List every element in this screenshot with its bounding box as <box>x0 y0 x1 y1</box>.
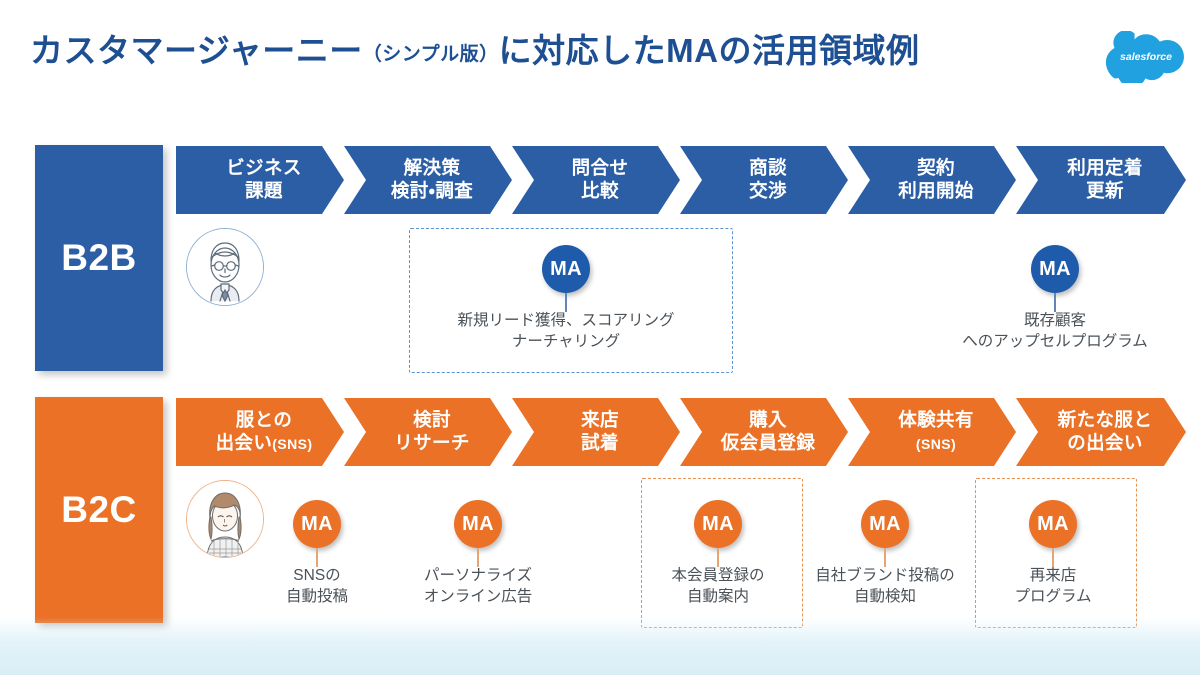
ma-caption-line1: 本会員登録の <box>671 566 764 587</box>
stage-label-line1: 体験共有 <box>898 409 974 432</box>
b2b-stage-row: ビジネス課題解決策検討・調査問合せ比較商談交渉契約利用開始利用定着更新 <box>176 146 1186 214</box>
page-title-subnote: （シンプル版） <box>363 44 499 65</box>
ma-caption-line2: 自動投稿 <box>286 587 348 608</box>
stage-label-line1: 新たな服と <box>1058 409 1153 432</box>
page-title-main-part2: に対応したMAの活用領域例 <box>499 32 920 69</box>
ma-caption: パーソナライズオンライン広告 <box>424 566 533 608</box>
stage-label-line1: 商談 <box>749 157 787 180</box>
ma-caption: 本会員登録の自動案内 <box>671 566 764 608</box>
stage-label-line1: 問合せ <box>572 157 629 180</box>
stage-label-line2: (SNS) <box>898 432 974 455</box>
stage-label-line1: ビジネス <box>226 157 302 180</box>
section-label-b2c: B2C <box>35 397 163 623</box>
ma-caption-line2: 自動検知 <box>815 587 955 608</box>
stage-label: 購入仮会員登録 <box>713 409 816 454</box>
woman-avatar <box>186 480 264 558</box>
stage-label-line2: 交渉 <box>749 180 787 203</box>
b2b-stage-6[interactable]: 利用定着更新 <box>1016 146 1186 214</box>
b2b-stage-1[interactable]: ビジネス課題 <box>176 146 344 214</box>
ma-caption-line2: オンライン広告 <box>424 587 533 608</box>
stage-label: 服との出会い(SNS) <box>208 409 313 454</box>
stage-label-channel: (SNS) <box>272 436 312 452</box>
ma-caption: 既存顧客へのアップセルプログラム <box>962 311 1148 353</box>
b2b-stage-3[interactable]: 問合せ比較 <box>512 146 680 214</box>
stage-label-line2: 検討・調査 <box>391 180 473 203</box>
section-label-b2b-text: B2B <box>61 237 137 279</box>
stage-label-line2: 利用開始 <box>898 180 974 203</box>
stage-label: 新たな服との出会い <box>1050 409 1153 454</box>
ma-connector-line <box>477 548 478 567</box>
ma-caption-line1: 新規リード獲得、スコアリング <box>457 311 674 332</box>
stage-label: 検討リサーチ <box>386 409 470 454</box>
stage-label: 利用定着更新 <box>1059 157 1143 202</box>
section-label-b2c-text: B2C <box>61 489 137 531</box>
b2b-stage-4[interactable]: 商談交渉 <box>680 146 848 214</box>
salesforce-logo-wordmark: salesforce <box>1120 51 1172 63</box>
ma-caption-line2: ナーチャリング <box>457 332 674 353</box>
stage-label-line1: 検討 <box>394 409 470 432</box>
stage-label-line1: 利用定着 <box>1067 157 1143 180</box>
ma-caption: SNSの自動投稿 <box>286 566 348 608</box>
page-title: カスタマージャーニー（シンプル版）に対応したMAの活用領域例 <box>30 33 919 69</box>
stage-label-channel: (SNS) <box>916 436 956 452</box>
stage-label-line2: 課題 <box>226 180 302 203</box>
ma-connector-line <box>1052 548 1053 567</box>
ma-caption-line1: パーソナライズ <box>424 566 533 587</box>
b2c-stage-3[interactable]: 来店試着 <box>512 398 680 466</box>
stage-label: 契約利用開始 <box>890 157 974 202</box>
ma-caption: 自社ブランド投稿の自動検知 <box>815 566 955 608</box>
b2b-stage-2[interactable]: 解決策検討・調査 <box>344 146 512 214</box>
stage-label-line2: 比較 <box>572 180 629 203</box>
ma-caption-line2: プログラム <box>1014 587 1091 608</box>
page-title-main-part1: カスタマージャーニー <box>30 32 363 69</box>
b2c-stage-5[interactable]: 体験共有(SNS) <box>848 398 1016 466</box>
stage-label-line2: リサーチ <box>394 432 470 455</box>
ma-caption-line1: 再来店 <box>1014 566 1091 587</box>
ma-caption: 再来店プログラム <box>1014 566 1091 608</box>
stage-label: 体験共有(SNS) <box>890 409 974 454</box>
stage-label-line2: 試着 <box>581 432 619 455</box>
stage-label-line1: 購入 <box>721 409 816 432</box>
stage-label-line1: 解決策 <box>391 157 473 180</box>
stage-label: 商談交渉 <box>741 157 787 202</box>
stage-label-line1: 契約 <box>898 157 974 180</box>
ma-connector-line <box>884 548 885 567</box>
b2c-stage-4[interactable]: 購入仮会員登録 <box>680 398 848 466</box>
ma-badge: MA <box>861 500 909 548</box>
stage-label-line2: 更新 <box>1067 180 1143 203</box>
ma-badge: MA <box>1031 245 1079 293</box>
ma-caption: 新規リード獲得、スコアリングナーチャリング <box>457 311 674 353</box>
b2b-stage-5[interactable]: 契約利用開始 <box>848 146 1016 214</box>
ma-caption-line2: 自動案内 <box>671 587 764 608</box>
businessman-avatar <box>186 228 264 306</box>
ma-badge: MA <box>542 245 590 293</box>
b2c-stage-row: 服との出会い(SNS)検討リサーチ来店試着購入仮会員登録体験共有(SNS)新たな… <box>176 398 1186 466</box>
stage-label-line2: の出会い <box>1058 432 1153 455</box>
ma-caption-line2: へのアップセルプログラム <box>962 332 1148 353</box>
ma-connector-line <box>717 548 718 567</box>
stage-label: 問合せ比較 <box>564 157 629 202</box>
ma-caption-line1: 既存顧客 <box>962 311 1148 332</box>
b2c-stage-6[interactable]: 新たな服との出会い <box>1016 398 1186 466</box>
stage-label-line2: 出会い(SNS) <box>216 432 313 455</box>
ma-connector-line <box>565 293 566 312</box>
stage-label: ビジネス課題 <box>218 157 302 202</box>
ma-badge: MA <box>454 500 502 548</box>
b2c-stage-2[interactable]: 検討リサーチ <box>344 398 512 466</box>
ma-badge: MA <box>293 500 341 548</box>
b2c-stage-1[interactable]: 服との出会い(SNS) <box>176 398 344 466</box>
ma-caption-line1: SNSの <box>286 566 348 587</box>
stage-label-line1: 服との <box>216 409 313 432</box>
stage-label-line1: 来店 <box>581 409 619 432</box>
stage-label-line2: 仮会員登録 <box>721 432 816 455</box>
ma-connector-line <box>1054 293 1055 312</box>
stage-label: 来店試着 <box>573 409 619 454</box>
slide-canvas: カスタマージャーニー（シンプル版）に対応したMAの活用領域例 salesforc… <box>0 0 1200 675</box>
section-label-b2b: B2B <box>35 145 163 371</box>
ma-badge: MA <box>694 500 742 548</box>
ma-caption-line1: 自社ブランド投稿の <box>815 566 955 587</box>
ma-badge: MA <box>1029 500 1077 548</box>
stage-label: 解決策検討・調査 <box>383 157 473 202</box>
ma-connector-line <box>316 548 317 567</box>
salesforce-cloud-logo: salesforce <box>1104 31 1188 83</box>
